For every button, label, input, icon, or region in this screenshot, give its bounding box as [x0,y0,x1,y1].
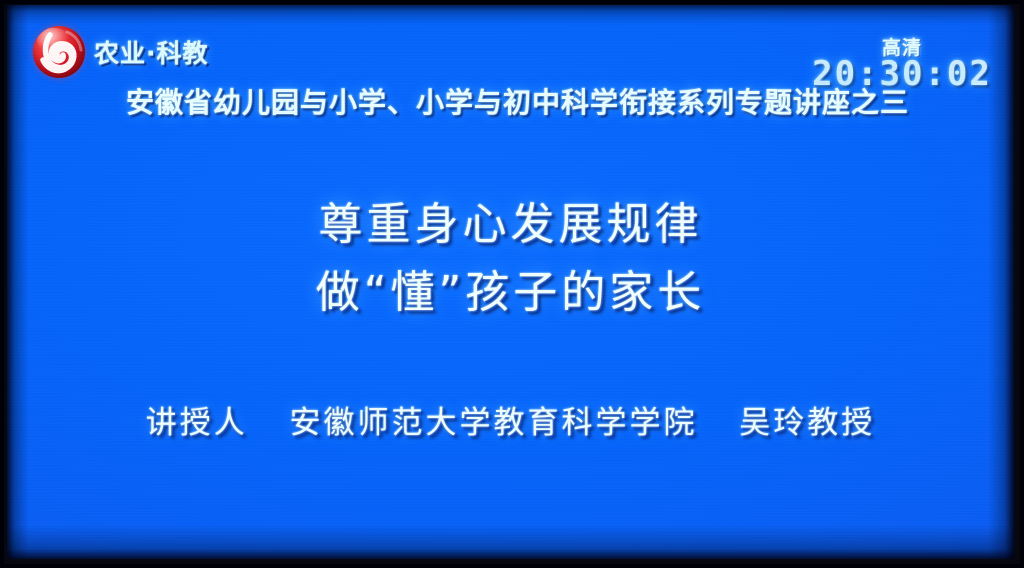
presenter-credit: 讲授人 安徽师范大学教育科学学院 吴玲教授 [7,397,1014,442]
channel-name-label: 农业·科教 [94,34,209,70]
lecture-title-line-2: 做“懂”孩子的家长 [7,259,1014,327]
broadcast-picture: 农业·科教 高清 20:30:02 安徽省幼儿园与小学、小学与初中科学衔接系列专… [7,5,1014,559]
presenter-name: 吴玲教授 [739,405,875,441]
series-title: 安徽省幼儿园与小学、小学与初中科学衔接系列专题讲座之三 [7,81,1014,121]
anhui-tv-sphere-logo-icon [33,26,85,78]
channel-bug: 农业·科教 [33,26,209,78]
presenter-affiliation: 安徽师范大学教育科学学院 [290,405,698,441]
tv-screen: 农业·科教 高清 20:30:02 安徽省幼儿园与小学、小学与初中科学衔接系列专… [0,0,1024,568]
lecture-title-line-1: 尊重身心发展规律 [7,191,1014,259]
presenter-role-label: 讲授人 [146,405,248,441]
lecture-title: 尊重身心发展规律 做“懂”孩子的家长 [7,191,1014,327]
